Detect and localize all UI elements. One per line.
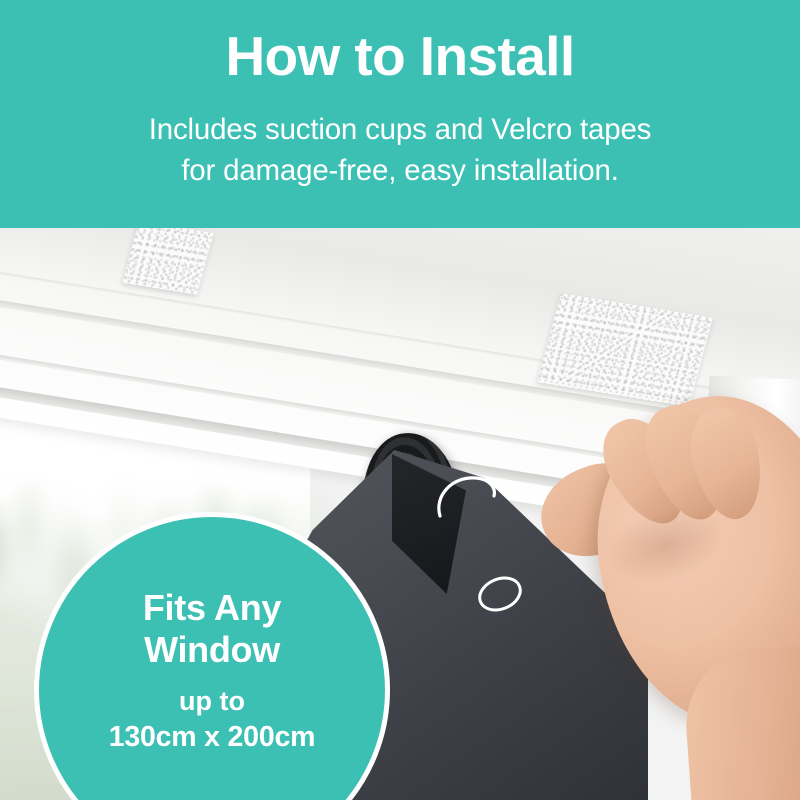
header-subtitle-line-1: Includes suction cups and Velcro tapes	[0, 110, 800, 151]
header-subtitle-line-2: for damage-free, easy installation.	[0, 151, 800, 192]
badge-title-line-1: Fits Any	[39, 587, 385, 629]
header-subtitle: Includes suction cups and Velcro tapes f…	[0, 110, 800, 191]
header-banner: How to Install Includes suction cups and…	[0, 0, 800, 228]
install-infographic: How to Install Includes suction cups and…	[0, 0, 800, 800]
badge-dimensions: 130cm x 200cm	[39, 720, 385, 754]
badge-title: Fits Any Window	[39, 587, 385, 672]
badge-qualifier: up to	[39, 685, 385, 717]
badge-title-line-2: Window	[39, 629, 385, 671]
page-title: How to Install	[0, 27, 800, 86]
